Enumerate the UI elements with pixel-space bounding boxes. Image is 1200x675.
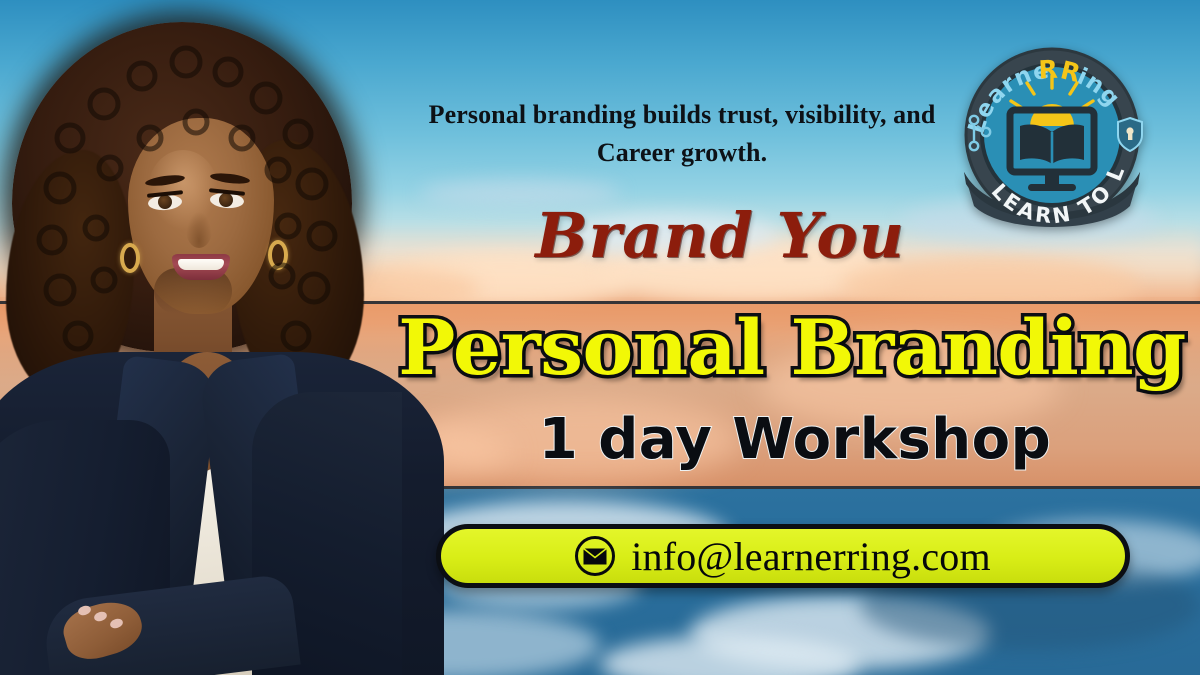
email-contact-pill[interactable]: info@learnerring.com <box>436 524 1130 588</box>
page-title: Personal Branding <box>388 312 1196 385</box>
email-address[interactable]: info@learnerring.com <box>631 533 991 580</box>
shield-lock-icon <box>1118 118 1142 151</box>
envelope-icon <box>575 536 615 576</box>
tagline-line-1: Personal branding builds trust, visibili… <box>429 100 936 129</box>
hair-texture <box>0 18 370 408</box>
tagline: Personal branding builds trust, visibili… <box>404 96 960 171</box>
learnerring-logo[interactable]: Learne RR ing <box>952 36 1152 234</box>
subtitle: 1 day Workshop <box>400 412 1190 468</box>
eyebrow-heading: Brand You <box>440 205 1000 267</box>
promo-banner: Personal branding builds trust, visibili… <box>0 0 1200 675</box>
tagline-line-2: Career growth. <box>404 134 960 172</box>
